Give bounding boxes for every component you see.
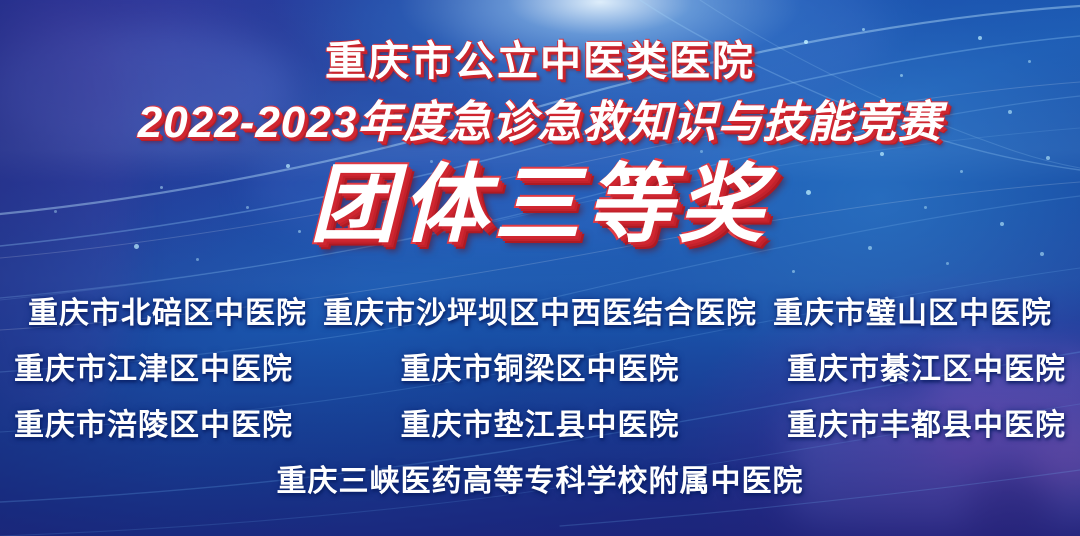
winner-organization: 重庆市涪陵区中医院: [14, 400, 293, 444]
winner-organization: 重庆市江津区中医院: [14, 344, 293, 388]
winner-row-4: 重庆三峡医药高等专科学校附属中医院: [0, 456, 1080, 512]
winner-row-3: 重庆市涪陵区中医院 重庆市垫江县中医院 重庆市丰都县中医院: [0, 400, 1080, 456]
winner-organization: 重庆市铜梁区中医院: [401, 344, 680, 388]
winner-organization: 重庆三峡医药高等专科学校附属中医院: [277, 456, 804, 500]
headline-competition: 2022-2023年度急诊急救知识与技能竞赛: [0, 86, 1080, 150]
winner-organization: 重庆市丰都县中医院: [787, 400, 1066, 444]
award-title: 团体三等奖: [0, 160, 1080, 250]
winner-list: 重庆市北碚区中医院 重庆市沙坪坝区中西医结合医院 重庆市璧山区中医院 重庆市江津…: [0, 288, 1080, 512]
winner-organization: 重庆市綦江区中医院: [787, 344, 1066, 388]
winner-organization: 重庆市璧山区中医院: [773, 288, 1052, 332]
winner-organization: 重庆市沙坪坝区中西医结合医院: [323, 288, 757, 332]
poster-content: 重庆市公立中医类医院 2022-2023年度急诊急救知识与技能竞赛 团体三等奖 …: [0, 0, 1080, 536]
winner-row-2: 重庆市江津区中医院 重庆市铜梁区中医院 重庆市綦江区中医院: [0, 344, 1080, 400]
headline-organization: 重庆市公立中医类医院: [0, 27, 1080, 87]
winner-organization: 重庆市垫江县中医院: [401, 400, 680, 444]
winner-organization: 重庆市北碚区中医院: [28, 288, 307, 332]
award-poster: 重庆市公立中医类医院 2022-2023年度急诊急救知识与技能竞赛 团体三等奖 …: [0, 0, 1080, 536]
winner-row-1: 重庆市北碚区中医院 重庆市沙坪坝区中西医结合医院 重庆市璧山区中医院: [0, 288, 1080, 344]
